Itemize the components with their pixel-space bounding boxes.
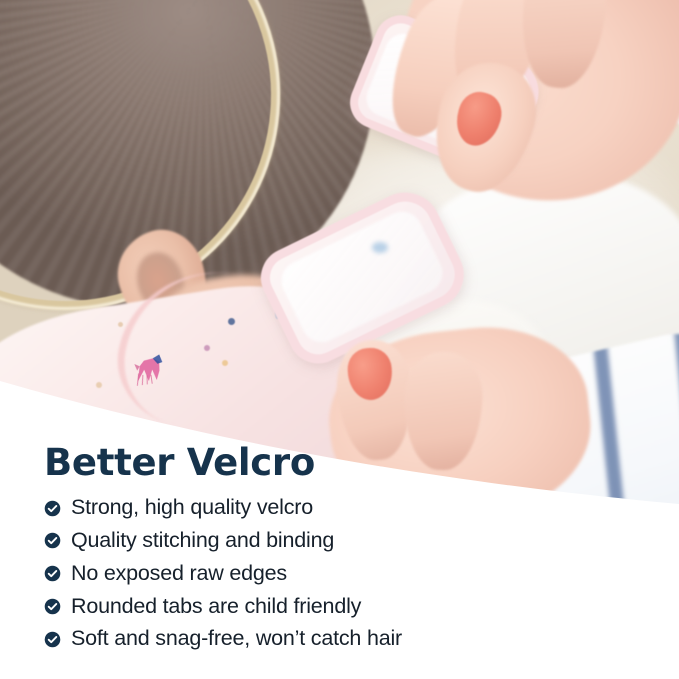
check-circle-icon xyxy=(44,598,61,615)
list-item: Rounded tabs are child friendly xyxy=(44,594,644,620)
list-item-label: No exposed raw edges xyxy=(71,561,287,587)
bib-dot xyxy=(228,318,235,325)
list-item: Strong, high quality velcro xyxy=(44,495,644,521)
list-item-label: Quality stitching and binding xyxy=(71,528,334,554)
page-title: Better Velcro xyxy=(44,443,644,482)
list-item-label: Strong, high quality velcro xyxy=(71,495,313,521)
bib-dot xyxy=(222,360,228,366)
check-circle-icon xyxy=(44,565,61,582)
list-item: No exposed raw edges xyxy=(44,561,644,587)
unicorn-print-icon xyxy=(126,347,173,388)
list-item: Quality stitching and binding xyxy=(44,528,644,554)
list-item: Soft and snag-free, won’t catch hair xyxy=(44,626,644,652)
check-circle-icon xyxy=(44,500,61,517)
bib-dot xyxy=(204,345,210,351)
feature-list: Strong, high quality velcro Quality stit… xyxy=(44,495,644,652)
check-circle-icon xyxy=(44,532,61,549)
bib-dot xyxy=(118,322,123,327)
velcro-tab-middle-print-dot xyxy=(372,242,388,253)
list-item-label: Soft and snag-free, won’t catch hair xyxy=(71,626,402,652)
feature-content: Better Velcro Strong, high quality velcr… xyxy=(44,443,644,659)
infographic-root: Better Velcro Strong, high quality velcr… xyxy=(0,0,679,679)
list-item-label: Rounded tabs are child friendly xyxy=(71,594,361,620)
check-circle-icon xyxy=(44,631,61,648)
bib-dot xyxy=(96,382,102,388)
